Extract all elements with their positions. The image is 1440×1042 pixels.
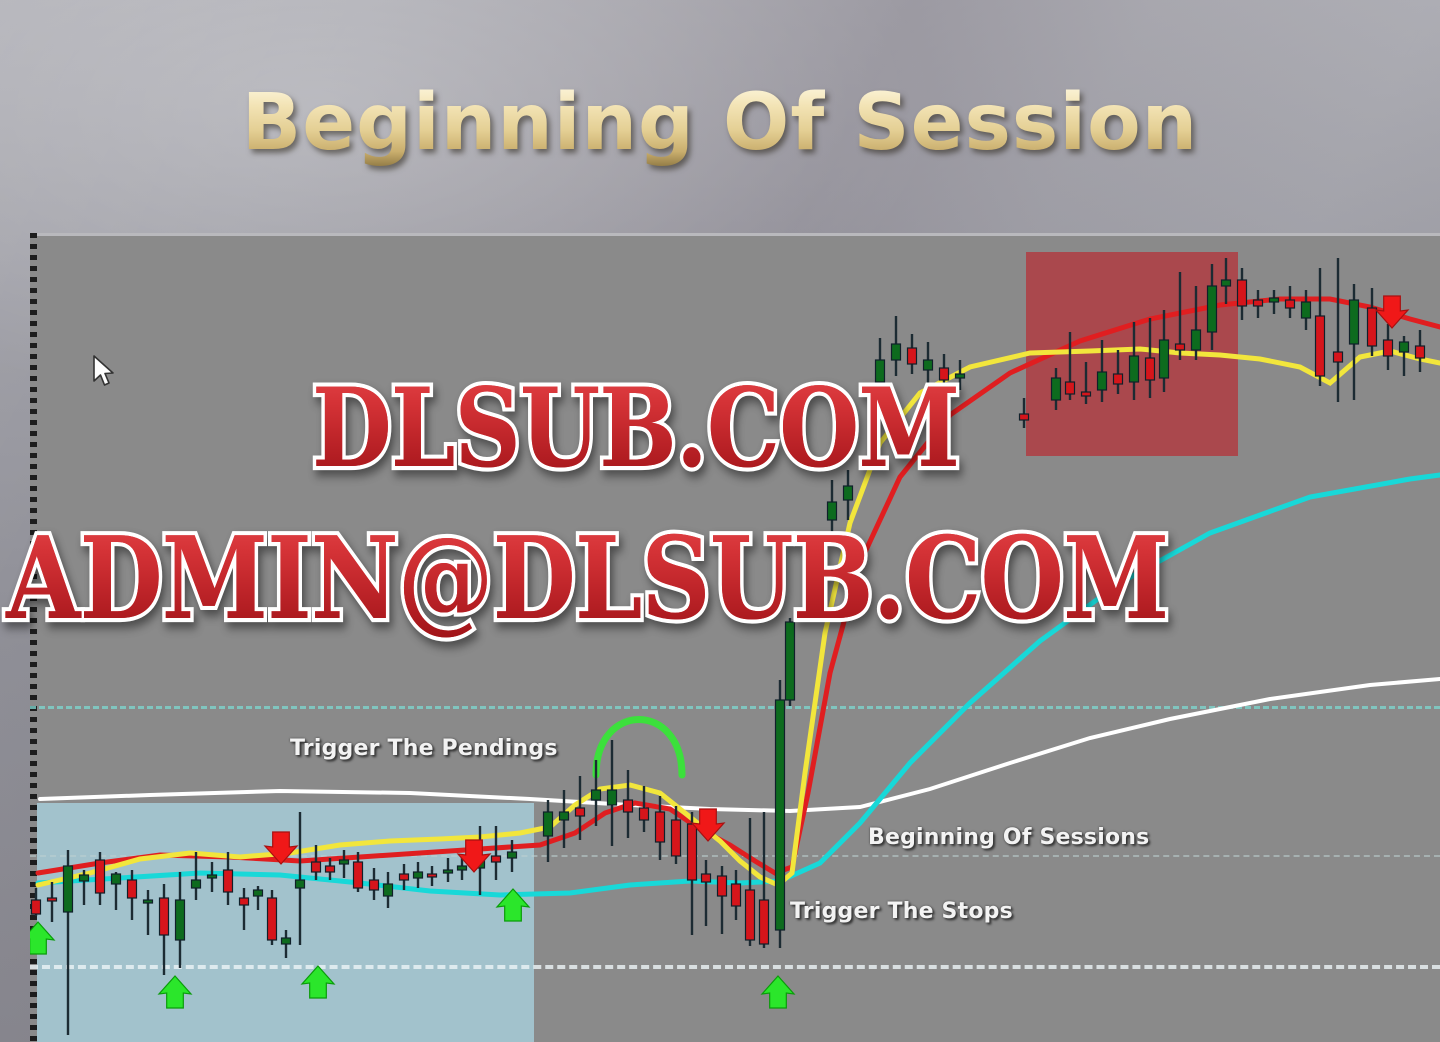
slide-canvas: Beginning Of Session Trigger The Pending… xyxy=(0,0,1440,1042)
sell-signal-arrow-icon xyxy=(692,809,724,841)
buy-signal-arrow-icon xyxy=(762,976,794,1008)
annotation-trigger-the-pendings: Trigger The Pendings xyxy=(290,736,558,761)
page-title: Beginning Of Session xyxy=(0,78,1440,168)
sell-signal-arrow-icon xyxy=(1376,296,1408,328)
sell-signal-arrow-icon xyxy=(458,840,490,872)
mouse-pointer-cursor xyxy=(92,355,118,389)
annotation-beginning-of-sessions: Beginning Of Sessions xyxy=(868,825,1149,850)
buy-signal-arrow-icon xyxy=(497,889,529,921)
buy-signal-arrow-icon xyxy=(302,966,334,998)
buy-signal-arrow-icon xyxy=(30,922,54,954)
buy-signal-arrow-icon xyxy=(159,976,191,1008)
watermark-site-fill: DLSUB.COM xyxy=(312,364,959,491)
annotation-trigger-the-stops: Trigger The Stops xyxy=(790,899,1013,924)
sell-signal-arrow-icon xyxy=(265,832,297,864)
watermark-email-fill: ADMIN@DLSUB.COM xyxy=(6,512,1168,645)
